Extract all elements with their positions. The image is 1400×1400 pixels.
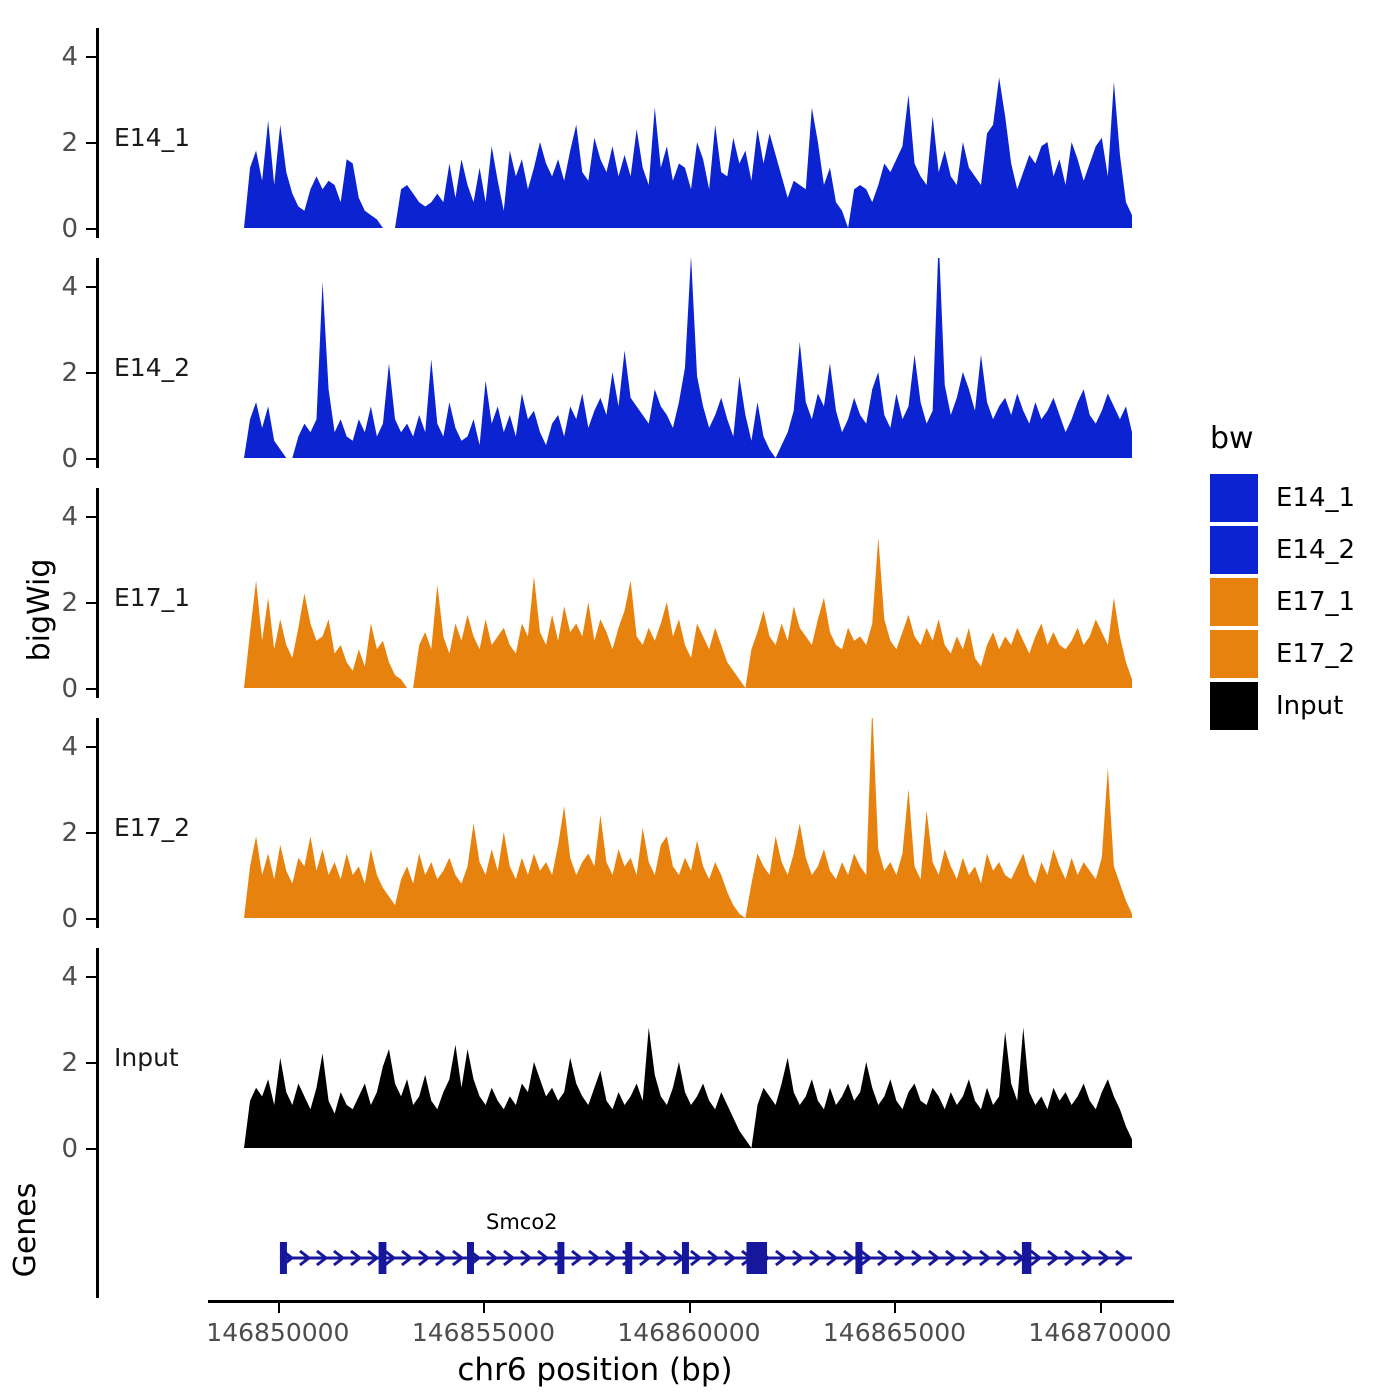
y-tick-mark: 2 xyxy=(86,372,96,374)
legend-swatch-input xyxy=(1210,682,1258,730)
legend-label: E17_1 xyxy=(1276,587,1355,617)
track-panel-e14_2: 024E14_2 xyxy=(96,258,1132,468)
y-tick-mark: 4 xyxy=(86,746,96,748)
y-tick-label: 0 xyxy=(61,216,78,242)
x-tick-mark xyxy=(483,1303,485,1313)
legend-swatch-e14_2 xyxy=(1210,526,1258,574)
y-tick-mark: 0 xyxy=(86,458,96,460)
y-tick-mark: 4 xyxy=(86,976,96,978)
y-tick-mark: 0 xyxy=(86,228,96,230)
y-tick-label: 4 xyxy=(61,504,78,530)
gene-model-track[interactable] xyxy=(244,1158,1132,1298)
y-tick-mark: 0 xyxy=(86,918,96,920)
y-axis-line xyxy=(96,718,99,928)
x-tick-mark xyxy=(689,1303,691,1313)
legend-label: E14_2 xyxy=(1276,535,1355,565)
x-tick-mark xyxy=(278,1303,280,1313)
legend-item-input[interactable]: Input xyxy=(1210,680,1355,732)
x-tick-mark xyxy=(894,1303,896,1313)
y-axis-line xyxy=(96,488,99,698)
x-axis-line xyxy=(208,1300,1174,1303)
legend-title: bw xyxy=(1210,424,1355,454)
y-tick-label: 0 xyxy=(61,676,78,702)
legend-swatch-e14_1 xyxy=(1210,474,1258,522)
track-panel-e17_2: 024E17_2 xyxy=(96,718,1132,928)
track-label-input: Input xyxy=(114,1043,179,1072)
legend-item-e14_1[interactable]: E14_1 xyxy=(1210,472,1355,524)
y-tick-label: 2 xyxy=(61,360,78,386)
y-tick-label: 4 xyxy=(61,44,78,70)
legend-label: Input xyxy=(1276,691,1343,721)
y-axis-line xyxy=(96,948,99,1158)
legend-swatch-e17_1 xyxy=(1210,578,1258,626)
x-tick-label: 146850000 xyxy=(206,1318,349,1347)
x-tick-mark xyxy=(1100,1303,1102,1313)
y-tick-label: 0 xyxy=(61,1136,78,1162)
track-panel-e14_1: 024E14_1 xyxy=(96,28,1132,238)
legend: bw E14_1E14_2E17_1E17_2Input xyxy=(1210,424,1355,732)
y-tick-label: 0 xyxy=(61,446,78,472)
x-tick-label: 146865000 xyxy=(823,1318,966,1347)
genome-browser-figure: bigWig Genes 024E14_1024E14_2024E17_1024… xyxy=(0,0,1400,1400)
legend-swatch-e17_2 xyxy=(1210,630,1258,678)
track-plot-e14_1[interactable] xyxy=(244,28,1132,238)
legend-item-e17_2[interactable]: E17_2 xyxy=(1210,628,1355,680)
track-plot-e17_1[interactable] xyxy=(244,488,1132,698)
y-tick-label: 4 xyxy=(61,274,78,300)
legend-items: E14_1E14_2E17_1E17_2Input xyxy=(1210,472,1355,732)
legend-item-e17_1[interactable]: E17_1 xyxy=(1210,576,1355,628)
genes-axis-line xyxy=(96,1158,99,1298)
x-axis-title: chr6 position (bp) xyxy=(0,1352,1190,1388)
track-panel-e17_1: 024E17_1 xyxy=(96,488,1132,698)
y-axis-line xyxy=(96,258,99,468)
track-label-e14_1: E14_1 xyxy=(114,123,190,152)
x-tick-label: 146870000 xyxy=(1028,1318,1171,1347)
track-label-e17_1: E17_1 xyxy=(114,583,190,612)
y-tick-label: 2 xyxy=(61,130,78,156)
y-tick-mark: 2 xyxy=(86,602,96,604)
y-tick-label: 2 xyxy=(61,1050,78,1076)
y-tick-mark: 2 xyxy=(86,832,96,834)
y-axis-line xyxy=(96,28,99,238)
y-tick-mark: 0 xyxy=(86,688,96,690)
track-plot-e17_2[interactable] xyxy=(244,718,1132,928)
y-tick-label: 4 xyxy=(61,734,78,760)
x-tick-label: 146860000 xyxy=(617,1318,760,1347)
y-tick-mark: 4 xyxy=(86,56,96,58)
y-tick-mark: 2 xyxy=(86,142,96,144)
y-tick-label: 0 xyxy=(61,906,78,932)
y-axis-title-genes: Genes xyxy=(8,1150,44,1310)
y-tick-mark: 0 xyxy=(86,1148,96,1150)
legend-item-e14_2[interactable]: E14_2 xyxy=(1210,524,1355,576)
track-plot-e14_2[interactable] xyxy=(244,258,1132,468)
legend-label: E17_2 xyxy=(1276,639,1355,669)
track-plot-input[interactable] xyxy=(244,948,1132,1158)
y-tick-mark: 4 xyxy=(86,286,96,288)
y-tick-mark: 2 xyxy=(86,1062,96,1064)
legend-label: E14_1 xyxy=(1276,483,1355,513)
y-tick-label: 2 xyxy=(61,820,78,846)
gene-name-label: Smco2 xyxy=(486,1210,558,1234)
y-axis-title-bigwig: bigWig xyxy=(22,510,58,710)
y-tick-mark: 4 xyxy=(86,516,96,518)
y-tick-label: 2 xyxy=(61,590,78,616)
track-panel-input: 024Input xyxy=(96,948,1132,1158)
track-label-e17_2: E17_2 xyxy=(114,813,190,842)
y-tick-label: 4 xyxy=(61,964,78,990)
track-label-e14_2: E14_2 xyxy=(114,353,190,382)
x-tick-label: 146855000 xyxy=(412,1318,555,1347)
